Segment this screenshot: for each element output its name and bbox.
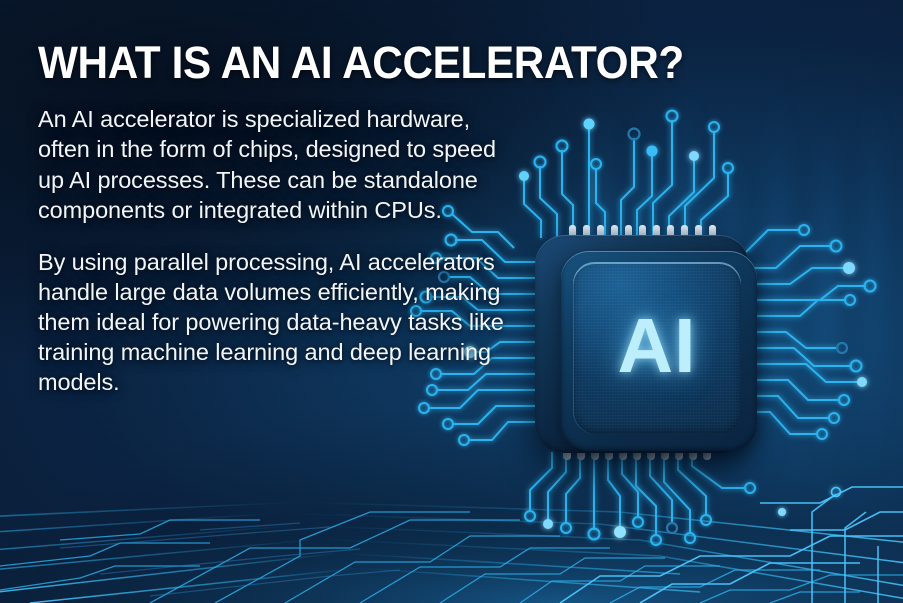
- paragraph-definition: An AI accelerator is specialized hardwar…: [38, 104, 508, 224]
- text-column: WHAT IS AN AI ACCELERATOR? An AI acceler…: [38, 40, 508, 397]
- page-title: WHAT IS AN AI ACCELERATOR?: [38, 40, 480, 86]
- paragraph-parallel-processing: By using parallel processing, AI acceler…: [38, 247, 508, 397]
- infographic-canvas: AI WHAT IS AN AI ACCELERATOR? An AI acce…: [0, 0, 903, 603]
